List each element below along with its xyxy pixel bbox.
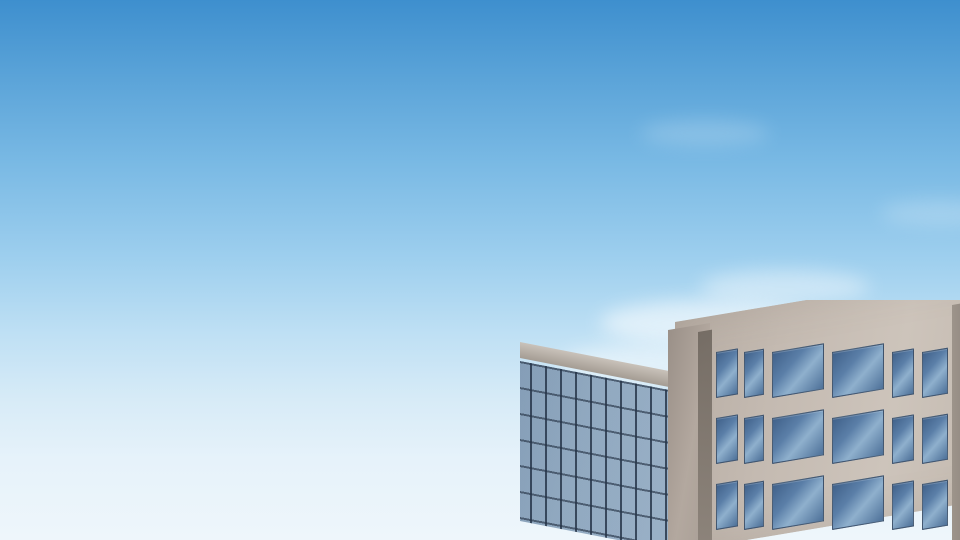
building-window bbox=[744, 349, 764, 398]
background-photo bbox=[0, 0, 960, 540]
building-right-column bbox=[952, 300, 960, 540]
building-window bbox=[892, 414, 914, 464]
building-window bbox=[892, 480, 914, 530]
building-window bbox=[892, 348, 914, 398]
building-window bbox=[744, 415, 764, 464]
building-window bbox=[716, 414, 738, 464]
cloud bbox=[640, 120, 770, 146]
building-window bbox=[772, 409, 824, 464]
building-window bbox=[922, 414, 948, 464]
building-window bbox=[716, 348, 738, 398]
building-window bbox=[922, 480, 948, 530]
office-building-image bbox=[520, 300, 960, 540]
building-window bbox=[832, 343, 884, 398]
building-window bbox=[744, 481, 764, 530]
building-core-shadow bbox=[698, 330, 712, 540]
building-window bbox=[922, 348, 948, 398]
building-window bbox=[772, 475, 824, 530]
slide-root: 以楼宇自控为核心业务的高新技术企业 建筑：办公楼，写字楼，学校，医院，酒店，商业… bbox=[0, 0, 960, 540]
building-window bbox=[832, 475, 884, 530]
building-window bbox=[772, 343, 824, 398]
cloud bbox=[700, 270, 870, 304]
building-window bbox=[832, 409, 884, 464]
building-window bbox=[716, 480, 738, 530]
